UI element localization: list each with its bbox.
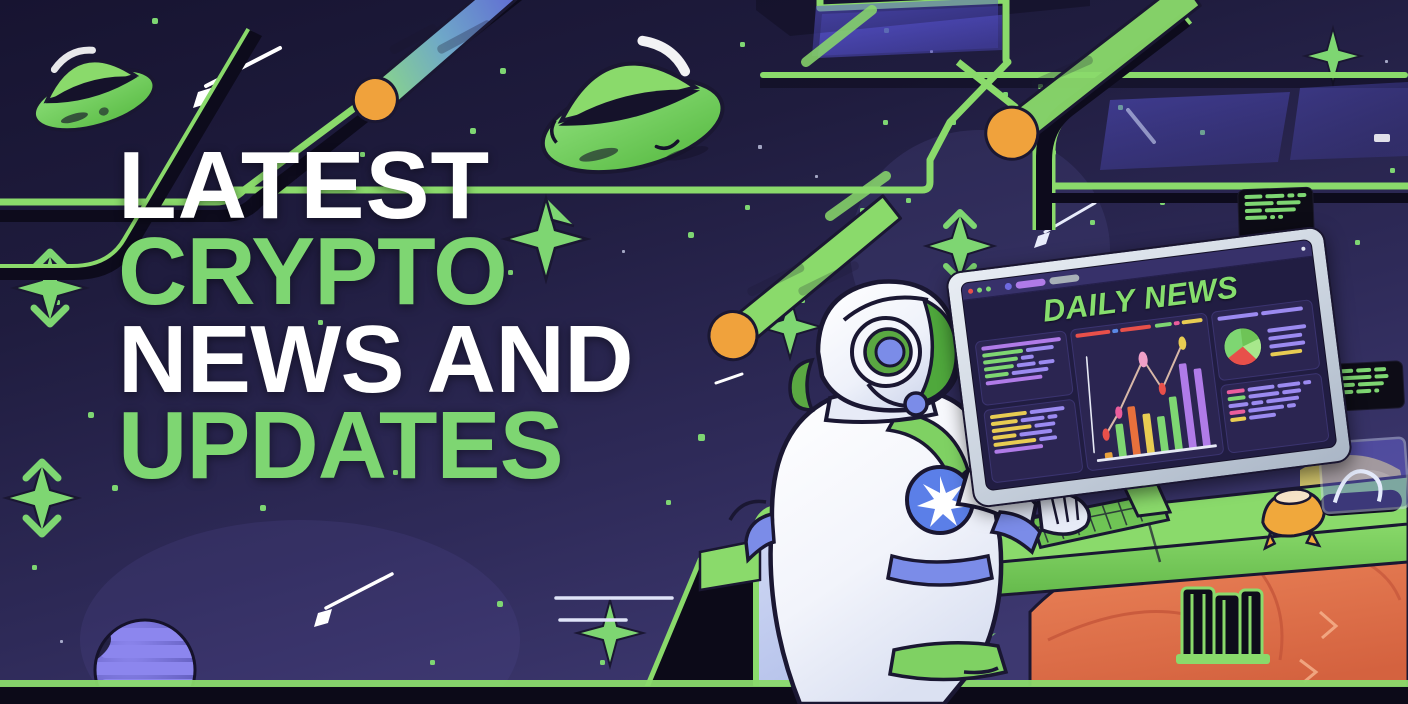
browser-menu-icon[interactable] bbox=[1301, 246, 1305, 250]
panel-main-chart[interactable] bbox=[1069, 312, 1224, 471]
traffic-light-close-icon[interactable] bbox=[968, 288, 974, 294]
chart-x-axis bbox=[1098, 446, 1216, 461]
browser-tab-indicator[interactable] bbox=[1004, 282, 1012, 290]
pie-chart bbox=[1219, 322, 1267, 370]
dashboard-left-column bbox=[974, 330, 1083, 483]
panel-data-table[interactable] bbox=[1220, 372, 1330, 454]
traffic-light-minimize-icon[interactable] bbox=[977, 287, 983, 293]
canisters bbox=[1176, 588, 1270, 664]
window-glass bbox=[1290, 82, 1408, 160]
panel-article-list[interactable] bbox=[974, 330, 1073, 406]
panel-pie-summary[interactable] bbox=[1211, 299, 1321, 381]
monitor-screen[interactable]: DAILY NEWS bbox=[960, 239, 1338, 492]
headline-line-4: UPDATES bbox=[118, 400, 738, 492]
computer-monitor[interactable]: DAILY NEWS bbox=[945, 225, 1354, 509]
suit-belt bbox=[888, 556, 992, 585]
headline-line-2: CRYPTO bbox=[118, 226, 738, 318]
browser-tab-active[interactable] bbox=[1015, 278, 1046, 289]
dashboard-right-column bbox=[1211, 299, 1330, 454]
chart-bars bbox=[1094, 361, 1210, 459]
panel-stats-list[interactable] bbox=[983, 399, 1083, 483]
browser-address-bar[interactable] bbox=[1049, 274, 1080, 285]
helmet-mic bbox=[905, 393, 927, 415]
suit-leg-trim bbox=[890, 643, 1006, 680]
chart-canvas bbox=[1076, 327, 1219, 466]
traffic-light-maximize-icon[interactable] bbox=[986, 286, 992, 292]
headline-block: LATEST CRYPTO NEWS AND UPDATES bbox=[118, 140, 738, 493]
window-glass bbox=[1100, 92, 1290, 170]
banner-root: LATEST CRYPTO NEWS AND UPDATES DAILY NEW… bbox=[0, 0, 1408, 704]
chart-y-axis bbox=[1082, 358, 1098, 453]
